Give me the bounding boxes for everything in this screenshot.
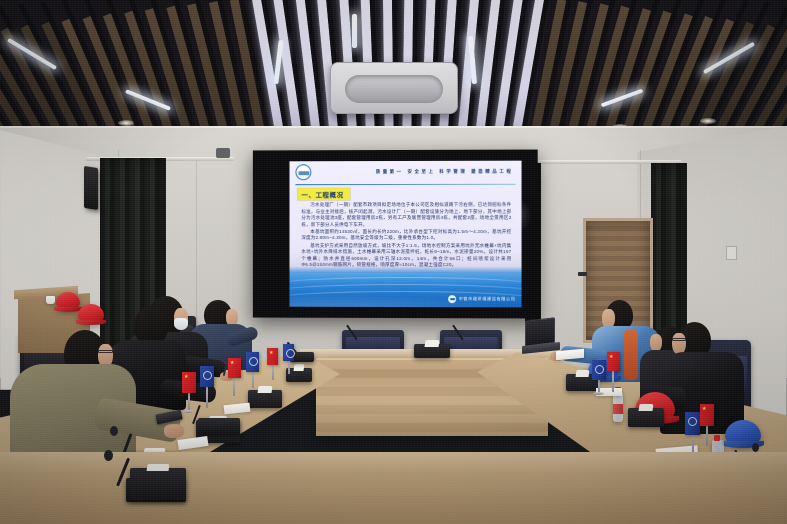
projection-screen: 质量第一 安全至上 科学管理 建造精品工程 一、工程概况 污水处理厂（一期）配套…	[253, 150, 538, 319]
person-hand	[164, 424, 184, 438]
ceiling-tube-light	[352, 14, 357, 48]
national-flag	[228, 358, 241, 378]
tissue-box	[130, 468, 186, 500]
slide-footer: 中铁市政环境建设有限公司	[448, 295, 515, 303]
national-flag	[182, 372, 196, 393]
cup	[46, 296, 55, 304]
national-flag	[267, 348, 278, 365]
wall-seam	[196, 160, 197, 350]
slide-paragraph: 本基坑面积约14530㎡，面长约长约220m，比外承台型下挖对标高为1.5m～4…	[301, 229, 511, 242]
eyeglasses-icon	[98, 350, 113, 353]
flag-base	[183, 410, 194, 413]
company-flag	[246, 352, 259, 372]
slide-divider	[295, 184, 515, 185]
tissue-box	[248, 390, 282, 408]
tissue-box	[286, 368, 312, 382]
tissue-box	[628, 408, 664, 427]
projector-mount-icon	[216, 148, 230, 158]
slide-section-title: 一、工程概况	[297, 188, 349, 200]
slide-header: 质量第一 安全至上 科学管理 建造精品工程	[289, 161, 521, 184]
person-sleeve-stripe	[624, 330, 638, 380]
company-flag	[200, 366, 214, 387]
microphone-head[interactable]	[104, 450, 113, 461]
company-flag	[283, 344, 294, 361]
tissue-box	[414, 344, 450, 358]
ceiling-downlight	[700, 118, 716, 124]
company-flag	[685, 412, 700, 435]
safety-helmet-icon	[78, 304, 104, 323]
slide-header-text: 质量第一 安全至上 科学管理 建造精品工程	[311, 169, 521, 176]
slide-paragraph: 基坑支护方式采用自然放坡方式，坡比不大于1:1.5，场地水控制方案采用坑外无水帷…	[301, 243, 511, 270]
foreground-table	[0, 452, 787, 524]
light-switch[interactable]	[726, 246, 737, 260]
slide-paragraph: 污水处理厂（一期）配套市政项目拟定场地位于本公司区及相似道路下污右侧，已达到招标…	[301, 202, 511, 229]
slatted-ceiling	[0, 0, 787, 132]
conference-room-photo: 质量第一 安全至上 科学管理 建造精品工程 一、工程概况 污水处理厂（一期）配套…	[0, 0, 787, 524]
wall-speaker-icon	[84, 166, 98, 210]
national-flag	[607, 352, 620, 371]
presentation-slide: 质量第一 安全至上 科学管理 建造精品工程 一、工程概况 污水处理厂（一期）配套…	[289, 161, 521, 308]
microphone-base[interactable]	[198, 418, 240, 434]
safety-helmet-icon	[56, 292, 80, 310]
microphone-head[interactable]	[110, 426, 118, 436]
eyeglasses-icon	[672, 338, 686, 341]
company-flag	[592, 360, 606, 380]
flag-base	[593, 392, 604, 395]
water-bottle	[613, 392, 623, 422]
slide-footer-company: 中铁市政环境建设有限公司	[459, 296, 516, 302]
company-logo-icon	[295, 164, 311, 180]
face-mask-icon	[174, 318, 188, 330]
national-flag	[700, 404, 714, 426]
ac-vent-icon	[330, 62, 458, 114]
microphone-head[interactable]	[752, 443, 759, 452]
screen-glare	[505, 198, 531, 232]
door-handle-icon[interactable]	[578, 272, 587, 276]
slide-body-text: 污水处理厂（一期）配套市政项目拟定场地位于本公司区及相似道路下污右侧，已达到招标…	[301, 202, 511, 270]
footer-logo-icon	[448, 295, 456, 303]
